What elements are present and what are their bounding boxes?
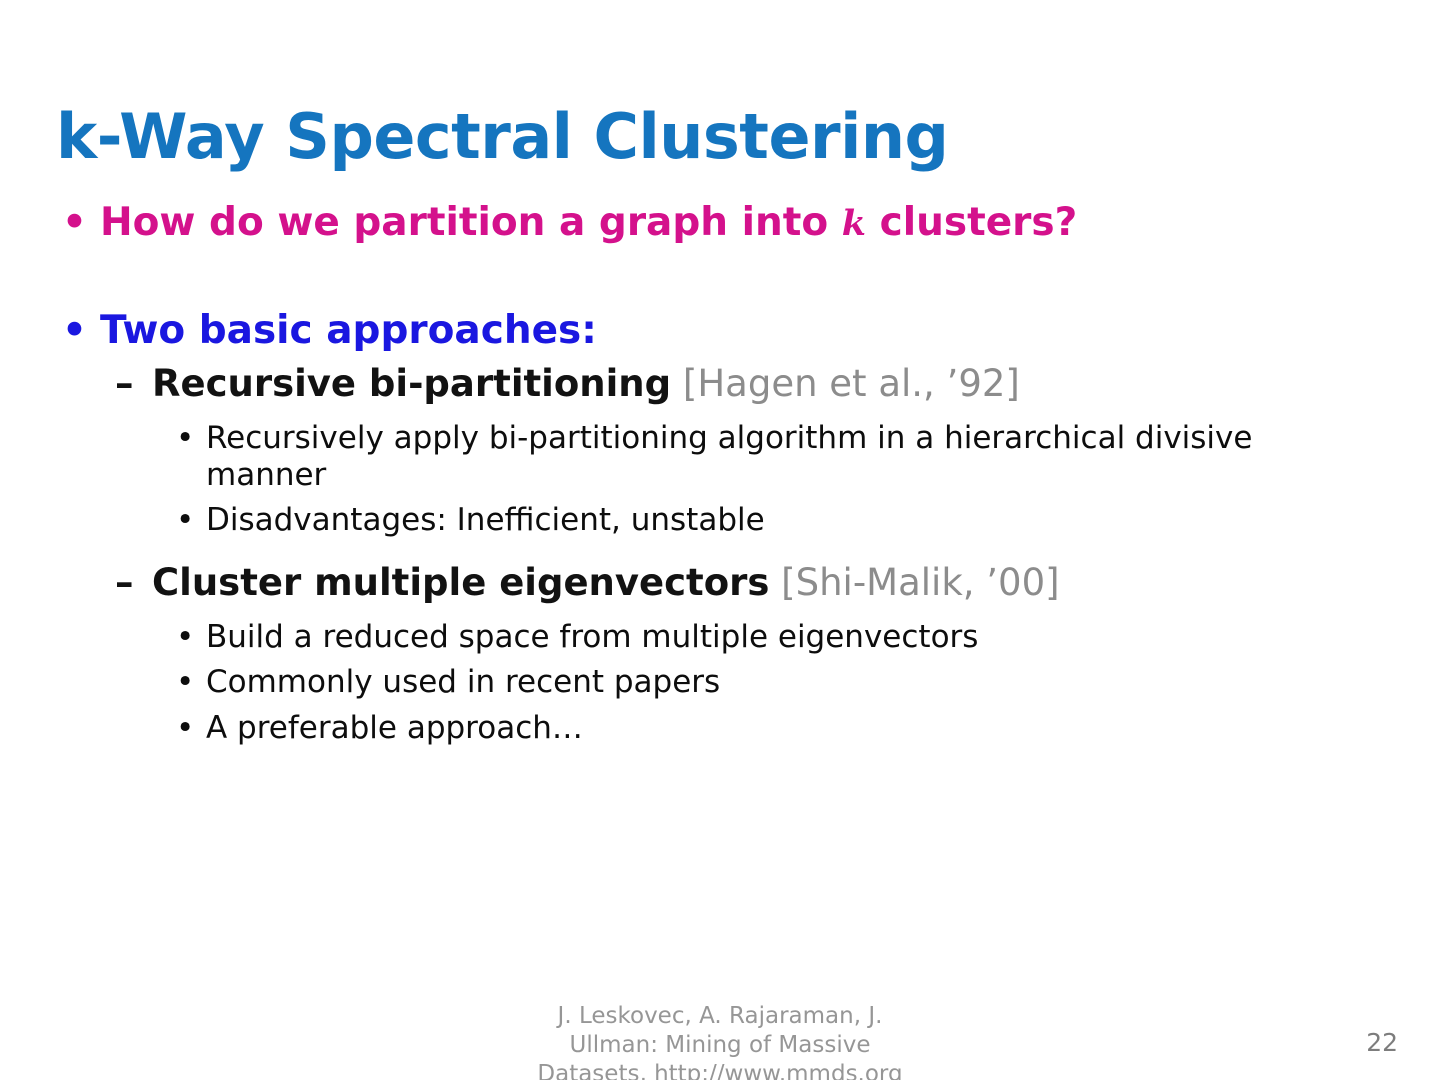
dash-marker-icon: – [115, 363, 134, 406]
question-text-before-k: How do we partition a graph into [100, 200, 842, 245]
sub-bullet-text: Build a reduced space from multiple eige… [206, 619, 978, 655]
bullet-two-approaches: • Two basic approaches: [0, 308, 1440, 353]
sub-bullet-text: Commonly used in recent papers [206, 664, 720, 700]
page-title: k-Way Spectral Clustering [56, 104, 1386, 169]
sub-bullet-build-reduced-space: • Build a reduced space from multiple ei… [0, 619, 1440, 655]
sub-bullet-recursive-apply: • Recursively apply bi-partitioning algo… [0, 420, 1440, 493]
bullet-dot-icon: • [176, 664, 194, 700]
sub-bullet-text: Disadvantages: Inefficient, unstable [206, 502, 765, 538]
approach-cluster-multiple-eigenvectors: – Cluster multiple eigenvectors [Shi-Mal… [0, 562, 1440, 605]
bullet-dot-icon: • [176, 420, 194, 456]
bullet-dot-icon: • [176, 710, 194, 746]
bullet-dot-icon: • [62, 308, 87, 353]
bullet-question: • How do we partition a graph into k clu… [0, 200, 1440, 245]
approach-1-citation: [Hagen et al., ’92] [671, 362, 1020, 405]
k-symbol: k [842, 203, 866, 244]
slide-canvas: k-Way Spectral Clustering • How do we pa… [0, 0, 1440, 1080]
sub-bullet-text: Recursively apply bi-partitioning algori… [206, 420, 1252, 492]
approach-2-citation: [Shi-Malik, ’00] [769, 561, 1059, 604]
footer-credit-line-2: Ullman: Mining of Massive [0, 1031, 1440, 1060]
sub-bullet-disadvantages: • Disadvantages: Inefficient, unstable [0, 502, 1440, 538]
footer-credit: J. Leskovec, A. Rajaraman, J. Ullman: Mi… [0, 1002, 1440, 1080]
slide-body: • How do we partition a graph into k clu… [0, 200, 1440, 746]
approach-2-label: Cluster multiple eigenvectors [152, 561, 769, 604]
footer-credit-line-1: J. Leskovec, A. Rajaraman, J. [0, 1002, 1440, 1031]
sub-bullet-preferable-approach: • A preferable approach… [0, 710, 1440, 746]
sub-bullet-commonly-used: • Commonly used in recent papers [0, 664, 1440, 700]
page-number: 22 [1366, 1028, 1398, 1057]
sub-bullet-text: A preferable approach… [206, 710, 583, 746]
footer-credit-line-3: Datasets, http://www.mmds.org [0, 1060, 1440, 1080]
bullet-dot-icon: • [62, 200, 87, 245]
two-approaches-text: Two basic approaches: [100, 308, 597, 353]
bullet-dot-icon: • [176, 502, 194, 538]
bullet-dot-icon: • [176, 619, 194, 655]
dash-marker-icon: – [115, 562, 134, 605]
question-text-after-k: clusters? [866, 200, 1077, 245]
approach-1-label: Recursive bi-partitioning [152, 362, 671, 405]
approach-recursive-bipartitioning: – Recursive bi-partitioning [Hagen et al… [0, 363, 1440, 406]
